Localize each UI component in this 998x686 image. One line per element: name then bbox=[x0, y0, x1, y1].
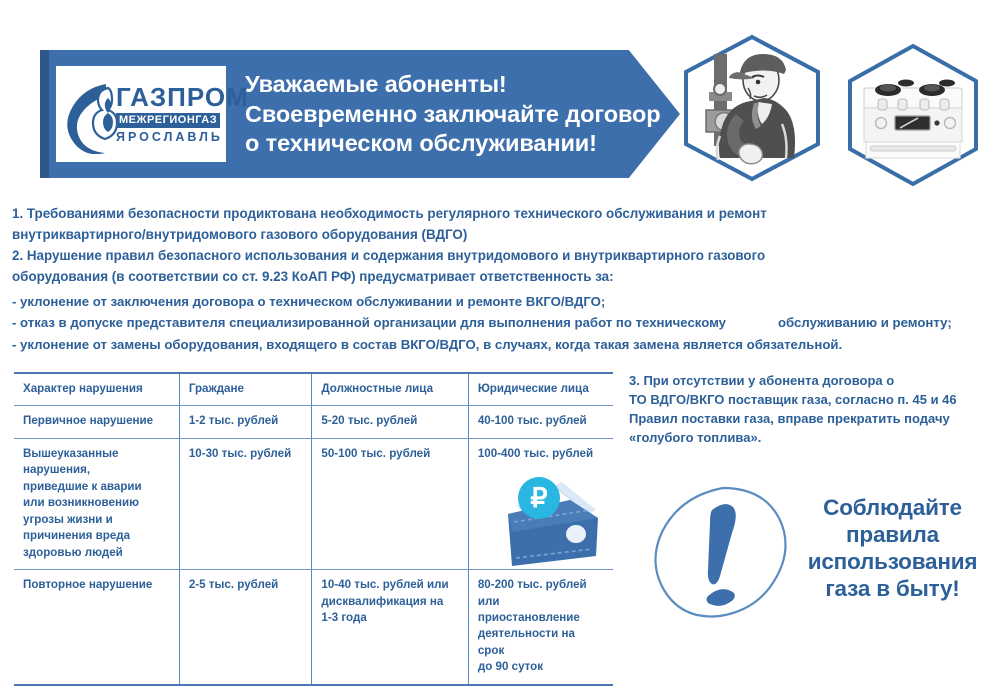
bullet-item-3: - уклонение от замены оборудования, вход… bbox=[12, 334, 992, 355]
paragraph-3-line-2: ТО ВДГО/ВКГО поставщик газа, согласно п.… bbox=[629, 391, 991, 410]
table-header-row: Характер нарушения Граждане Должностные … bbox=[14, 374, 613, 406]
paragraph-1-line-2: внутриквартирного/внутридомового газовог… bbox=[12, 225, 992, 245]
banner-line-2: Своевременно заключайте договор bbox=[245, 100, 675, 130]
paragraph-3-line-1: 3. При отсутствии у абонента договора о bbox=[629, 372, 991, 391]
wallet-ruble-icon: ₽ bbox=[492, 470, 612, 580]
bullet-item-2-part-b: обслуживанию и ремонту; bbox=[778, 315, 952, 330]
cell-officials: 5-20 тыс. рублей bbox=[312, 406, 468, 438]
logo-gazprom-text: ГАЗПРОМ bbox=[116, 84, 222, 110]
ruble-symbol: ₽ bbox=[530, 483, 547, 513]
safety-slogan: Соблюдайте правила использования газа в … bbox=[790, 494, 995, 602]
table-bottom-rule bbox=[14, 684, 613, 685]
cell-violation: Повторное нарушение bbox=[14, 570, 179, 684]
paragraph-2-line-2: оборудования (в соответствии со ст. 9.23… bbox=[12, 267, 992, 287]
body-paragraphs: 1. Требованиями безопасности продиктован… bbox=[12, 204, 992, 288]
cell-legal: 40-100 тыс. рублей bbox=[468, 406, 613, 438]
cell-officials: 10-40 тыс. рублей или дисквалификация на… bbox=[312, 570, 468, 684]
cell-violation: Вышеуказанные нарушения, приведшие к ава… bbox=[14, 438, 179, 569]
table-row: Повторное нарушение 2-5 тыс. рублей 10-4… bbox=[14, 570, 613, 684]
paragraph-2-line-1: 2. Нарушение правил безопасного использо… bbox=[12, 246, 992, 266]
gas-worker-icon bbox=[676, 32, 828, 184]
banner-line-3: о техническом обслуживании! bbox=[245, 129, 675, 159]
cell-violation: Первичное нарушение bbox=[14, 406, 179, 438]
bullet-item-2: - отказ в допуске представителя специали… bbox=[12, 312, 992, 333]
cell-officials: 50-100 тыс. рублей bbox=[312, 438, 468, 569]
cell-legal: 80-200 тыс. рублей или приостановление д… bbox=[468, 570, 613, 684]
cell-citizens: 10-30 тыс. рублей bbox=[179, 438, 312, 569]
paragraph-3-line-4: «голубого топлива». bbox=[629, 429, 991, 448]
slogan-line-1: Соблюдайте bbox=[790, 494, 995, 521]
bullet-item-2-part-a: - отказ в допуске представителя специали… bbox=[12, 315, 726, 330]
table-header-officials: Должностные лица bbox=[312, 374, 468, 406]
paragraph-1-line-1: 1. Требованиями безопасности продиктован… bbox=[12, 204, 992, 224]
gazprom-flame-icon bbox=[62, 74, 124, 154]
gazprom-logo: ГАЗПРОМ МЕЖРЕГИОНГАЗ ЯРОСЛАВЛЬ bbox=[56, 66, 226, 162]
slogan-line-3: использования bbox=[790, 548, 995, 575]
header-banner: ГАЗПРОМ МЕЖРЕГИОНГАЗ ЯРОСЛАВЛЬ Уважаемые… bbox=[40, 50, 680, 178]
banner-line-1: Уважаемые абоненты! bbox=[245, 70, 675, 100]
banner-headline: Уважаемые абоненты! Своевременно заключа… bbox=[245, 70, 675, 159]
poster-canvas: ГАЗПРОМ МЕЖРЕГИОНГАЗ ЯРОСЛАВЛЬ Уважаемые… bbox=[0, 0, 998, 665]
banner-left-bar bbox=[40, 50, 49, 178]
gas-stove-icon bbox=[840, 42, 986, 188]
paragraph-3: 3. При отсутствии у абонента договора о … bbox=[629, 372, 991, 448]
exclamation-circle-icon bbox=[648, 478, 798, 633]
bullet-item-1: - уклонение от заключения договора о тех… bbox=[12, 291, 992, 312]
paragraph-3-line-3: Правил поставки газа, вправе прекратить … bbox=[629, 410, 991, 429]
table-header-violation: Характер нарушения bbox=[14, 374, 179, 406]
slogan-line-2: правила bbox=[790, 521, 995, 548]
logo-subsidiary-text: МЕЖРЕГИОНГАЗ bbox=[116, 113, 220, 128]
table-header-citizens: Граждане bbox=[179, 374, 312, 406]
logo-city-text: ЯРОСЛАВЛЬ bbox=[116, 131, 222, 144]
cell-citizens: 2-5 тыс. рублей bbox=[179, 570, 312, 684]
cell-citizens: 1-2 тыс. рублей bbox=[179, 406, 312, 438]
violation-bullet-list: - уклонение от заключения договора о тех… bbox=[12, 291, 992, 355]
slogan-line-4: газа в быту! bbox=[790, 575, 995, 602]
table-header-legal: Юридические лица bbox=[468, 374, 613, 406]
table-row: Первичное нарушение 1-2 тыс. рублей 5-20… bbox=[14, 406, 613, 438]
